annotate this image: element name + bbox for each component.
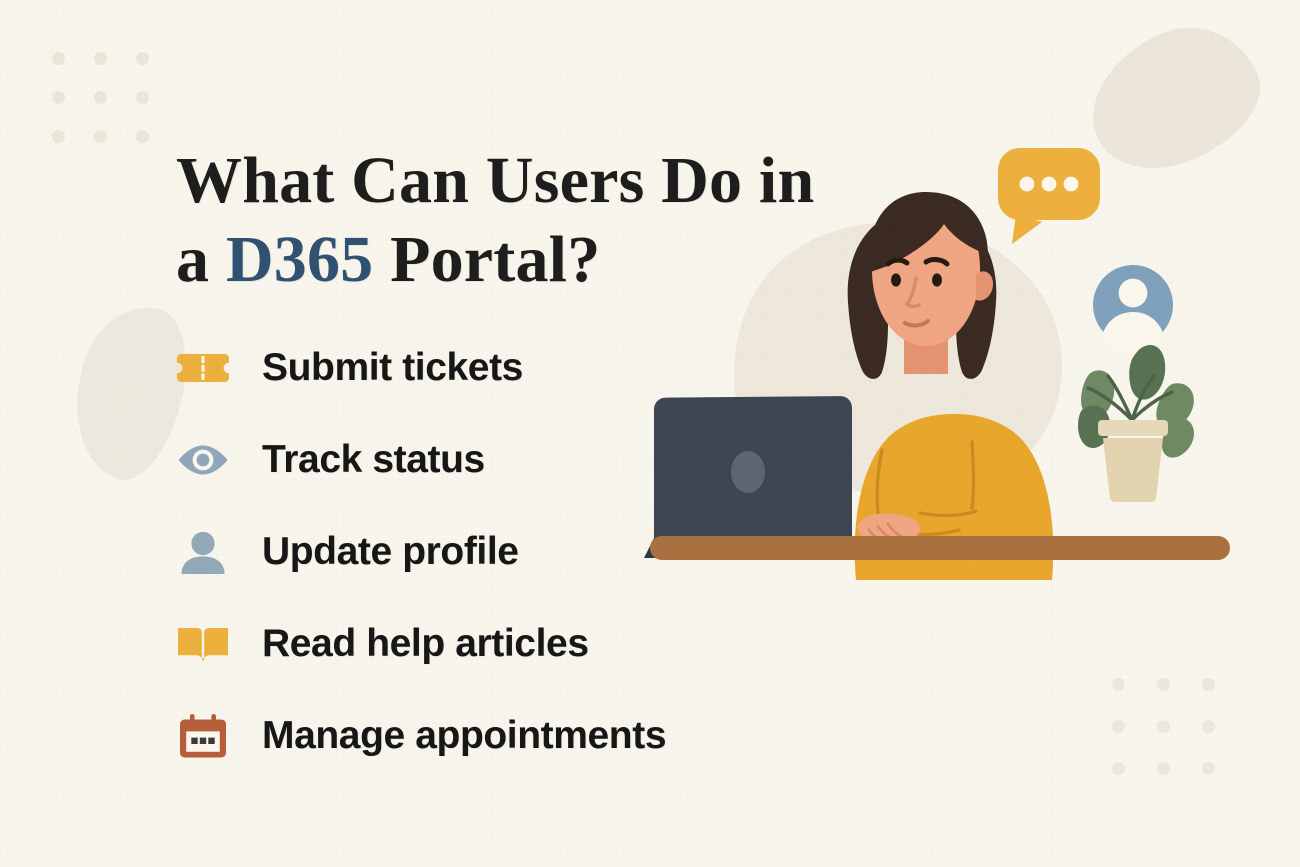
feature-label: Manage appointments <box>262 714 666 758</box>
user-icon <box>172 521 234 583</box>
list-item-submit-tickets: Submit tickets <box>172 322 792 414</box>
title-line-2-prefix: a <box>176 223 226 296</box>
feature-label: Submit tickets <box>262 346 523 390</box>
feature-label: Read help articles <box>262 622 589 666</box>
list-item-track-status: Track status <box>172 414 792 506</box>
title-line-1: What Can Users Do in <box>176 144 814 217</box>
potted-plant <box>1078 345 1194 502</box>
title-accent-d365: D365 <box>226 223 373 296</box>
title-line-2-suffix: Portal? <box>373 223 600 296</box>
list-item-read-help-articles: Read help articles <box>172 598 792 690</box>
decorative-dot-grid-top-left <box>52 52 149 143</box>
page-title: What Can Users Do in a D365 Portal? <box>176 141 966 299</box>
calendar-icon <box>172 705 234 767</box>
list-item-manage-appointments: Manage appointments <box>172 690 792 782</box>
user-avatar-badge-icon <box>1093 265 1173 355</box>
feature-label: Update profile <box>262 530 519 574</box>
eye-icon <box>172 429 234 491</box>
open-book-icon <box>172 613 234 675</box>
feature-list: Submit tickets Track status Update profi… <box>172 322 792 782</box>
chat-bubble-icon <box>998 148 1100 244</box>
list-item-update-profile: Update profile <box>172 506 792 598</box>
decorative-dot-grid-bottom-right <box>1112 678 1215 775</box>
feature-label: Track status <box>262 438 485 482</box>
ticket-icon <box>172 337 234 399</box>
infographic-canvas: What Can Users Do in a D365 Portal? Subm… <box>0 0 1300 867</box>
